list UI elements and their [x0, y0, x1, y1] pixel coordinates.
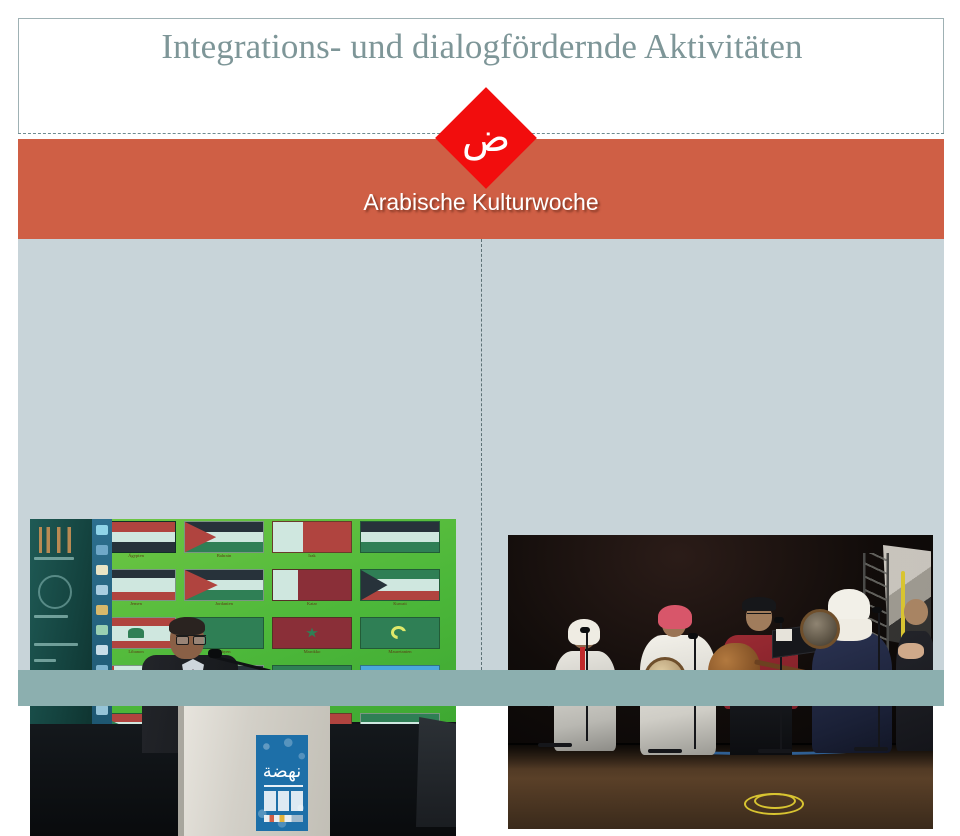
flag-label: Marokko [272, 649, 352, 654]
banner-circle-logo [38, 575, 72, 609]
musician-cap [742, 597, 776, 611]
stand-base [854, 747, 888, 751]
poster-boxes [264, 791, 303, 811]
column-divider [481, 239, 482, 670]
coiled-cable [754, 793, 796, 809]
slide-canvas: Integrations- und dialogfördernde Aktivi… [18, 18, 944, 706]
musician-trousers [730, 701, 792, 755]
musician-headdress [658, 605, 692, 629]
flag-label: Katar [272, 601, 352, 606]
page-title: Integrations- und dialogfördernde Aktivi… [19, 27, 945, 67]
poster-rule [264, 785, 303, 787]
stand-base [538, 743, 572, 747]
flag-label: Kuwait [360, 601, 440, 606]
flag-cell [360, 521, 440, 567]
microphone-icon [208, 649, 222, 658]
poster-sponsor-logos [264, 815, 303, 822]
flag-label: Bahrain [184, 553, 264, 558]
musician-hand [898, 643, 924, 659]
riq-instrument [800, 609, 840, 649]
folding-chair [416, 717, 456, 827]
banner-ornament [36, 527, 84, 553]
sheet-music [776, 629, 792, 641]
microphone-icon [774, 617, 784, 623]
lectern-edge [178, 704, 184, 836]
flag-label: Mauretanien [360, 649, 440, 654]
microphone-icon [872, 607, 882, 613]
musician-head [904, 599, 928, 625]
flag-cell: Irak [272, 521, 352, 567]
speaker-hair [169, 617, 205, 635]
microphone-icon [688, 633, 698, 639]
musician-glasses [747, 613, 771, 620]
stand-base [758, 749, 792, 753]
flag-label: Irak [272, 553, 352, 558]
flag-cell: Bahrain [184, 521, 264, 567]
flag-cell: Marokko [272, 617, 352, 663]
section-title: Arabische Kulturwoche [18, 189, 944, 216]
poster-arabic-text: نهضة [256, 763, 308, 781]
speaker-glasses [176, 635, 206, 643]
stand-base [648, 749, 682, 753]
flag-cell: Kuwait [360, 569, 440, 615]
flag-label: Jordanien [184, 601, 264, 606]
flag-cell: Mauretanien [360, 617, 440, 663]
event-banner-in-room [30, 519, 92, 744]
flag-cell: Katar [272, 569, 352, 615]
flag-cell: Jordanien [184, 569, 264, 615]
lectern-poster: نهضة [256, 735, 308, 831]
footer-bar [18, 670, 944, 706]
microphone-icon [580, 627, 590, 633]
